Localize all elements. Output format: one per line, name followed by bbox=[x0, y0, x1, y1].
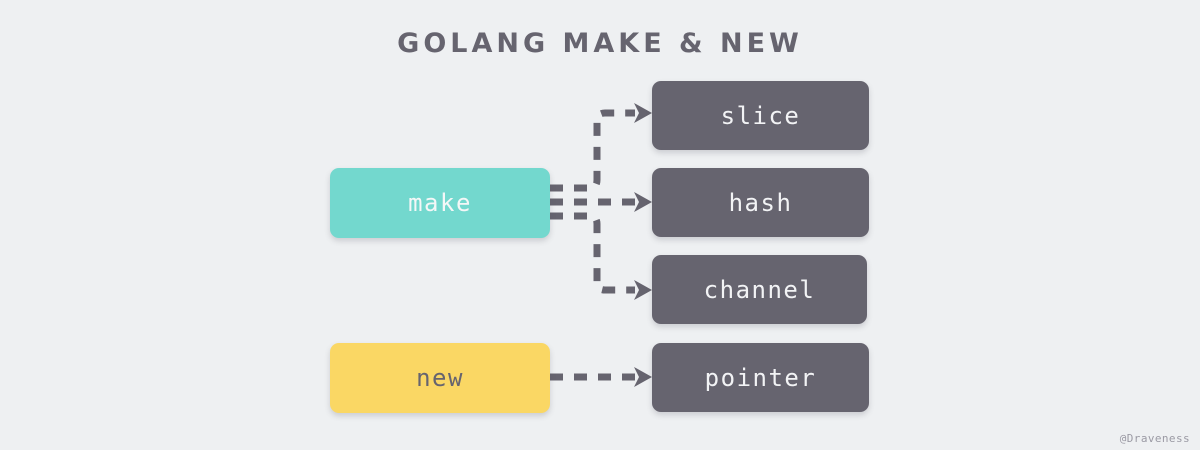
node-channel[interactable]: channel bbox=[652, 255, 867, 324]
edge-make-to-channel bbox=[550, 216, 635, 290]
connector-layer bbox=[0, 0, 1200, 450]
arrowhead-hash bbox=[634, 192, 652, 212]
node-pointer-label: pointer bbox=[705, 364, 817, 392]
node-pointer[interactable]: pointer bbox=[652, 343, 869, 412]
node-slice[interactable]: slice bbox=[652, 81, 869, 150]
node-hash[interactable]: hash bbox=[652, 168, 869, 237]
arrowhead-channel bbox=[634, 280, 652, 300]
node-new[interactable]: new bbox=[330, 343, 550, 413]
page-title: GOLANG MAKE & NEW bbox=[0, 28, 1200, 59]
arrowhead-pointer bbox=[634, 367, 652, 387]
arrowhead-slice bbox=[634, 103, 652, 123]
diagram-canvas: GOLANG MAKE & NEW make new slice hash ch… bbox=[0, 0, 1200, 450]
node-hash-label: hash bbox=[729, 189, 793, 217]
node-new-label: new bbox=[416, 364, 464, 392]
node-make-label: make bbox=[408, 189, 472, 217]
watermark: @Draveness bbox=[1120, 432, 1190, 445]
edge-make-to-slice bbox=[550, 113, 635, 188]
node-make[interactable]: make bbox=[330, 168, 550, 238]
node-slice-label: slice bbox=[721, 102, 801, 130]
node-channel-label: channel bbox=[704, 276, 816, 304]
